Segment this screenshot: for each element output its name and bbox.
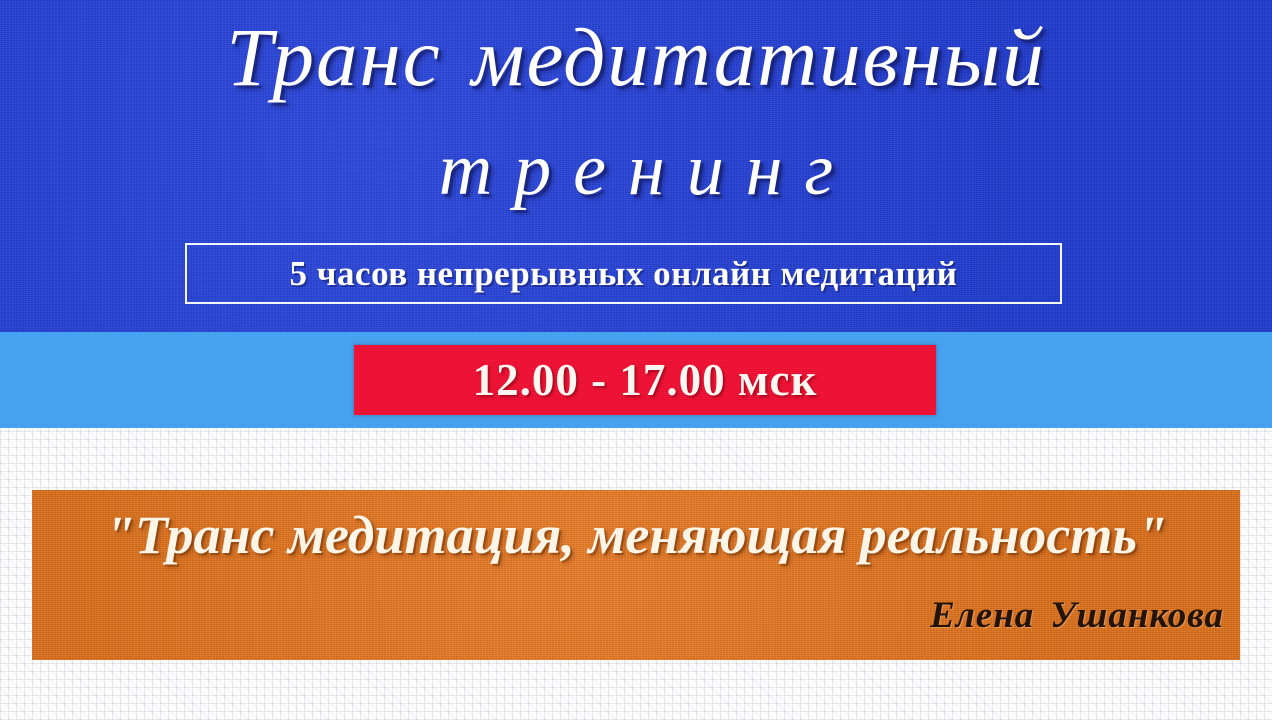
header-band: Трансмедитативный тренинг 5 часов непрер…: [0, 0, 1272, 332]
subtitle-box: 5 часов непрерывных онлайн медитаций: [185, 243, 1062, 304]
title-word-trans: Транс: [226, 11, 441, 103]
author-name: ЕленаУшанкова: [930, 594, 1224, 637]
poster-title-line-1: Трансмедитативный: [0, 14, 1272, 101]
title-word-meditativny: медитативный: [472, 11, 1046, 103]
time-banner: 12.00 - 17.00 мск: [354, 345, 936, 415]
author-first-name: Елена: [930, 595, 1034, 636]
time-range-text: 12.00 - 17.00 мск: [473, 354, 818, 406]
promo-poster: Трансмедитативный тренинг 5 часов непрер…: [0, 0, 1272, 720]
quote-box: "Транс медитация, меняющая реальность" Е…: [32, 490, 1240, 660]
quote-text: "Транс медитация, меняющая реальность": [32, 504, 1240, 566]
poster-title-line-2: тренинг: [0, 128, 1272, 213]
author-last-name: Ушанкова: [1050, 595, 1224, 636]
subtitle-text: 5 часов непрерывных онлайн медитаций: [290, 254, 958, 294]
